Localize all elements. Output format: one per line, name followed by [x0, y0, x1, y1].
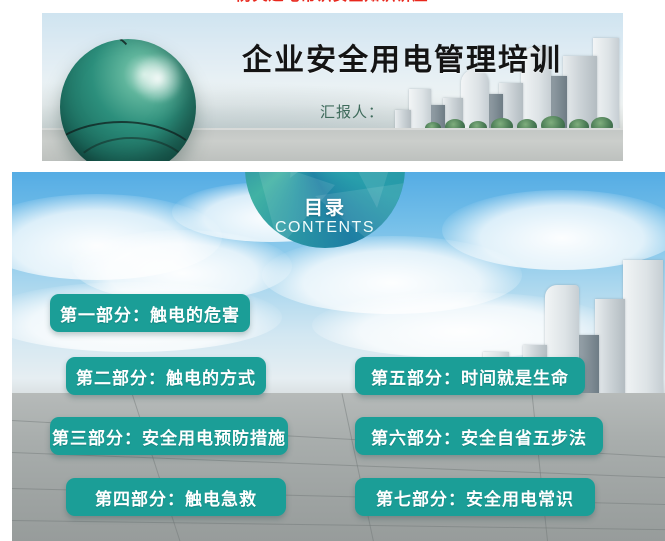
contents-item-3[interactable]: 第三部分：安全用电预防措施	[50, 417, 288, 455]
contents-item-7[interactable]: 第七部分：安全用电常识	[355, 478, 595, 516]
top-banner-text-label: 防火避电常识安全知识讲座	[0, 0, 665, 4]
contents-heading-en: CONTENTS	[245, 219, 405, 237]
contents-heading-cn: 目录	[245, 193, 405, 220]
top-cropped-banner-text: 防火避电常识安全知识讲座	[0, 0, 665, 13]
slide-title: 企业安全用电管理培训	[192, 35, 612, 79]
pavement-plane	[12, 393, 665, 541]
cloud-shape	[72, 230, 292, 302]
contents-slide: 目录 CONTENTS 第一部分：触电的危害 第二部分：触电的方式 第三部分：安…	[12, 172, 665, 541]
contents-item-4[interactable]: 第四部分：触电急救	[66, 478, 286, 516]
cloud-shape	[12, 194, 222, 280]
presenter-label: 汇报人：	[192, 101, 512, 122]
contents-item-6[interactable]: 第六部分：安全自省五步法	[355, 417, 603, 455]
contents-item-2[interactable]: 第二部分：触电的方式	[66, 357, 266, 395]
contents-item-5[interactable]: 第五部分：时间就是生命	[355, 357, 585, 395]
contents-circle-badge: 目录 CONTENTS	[245, 172, 405, 248]
teal-sphere-icon	[60, 39, 196, 161]
contents-item-1[interactable]: 第一部分：触电的危害	[50, 294, 250, 332]
title-slide-banner: 企业安全用电管理培训 汇报人：	[42, 13, 623, 161]
